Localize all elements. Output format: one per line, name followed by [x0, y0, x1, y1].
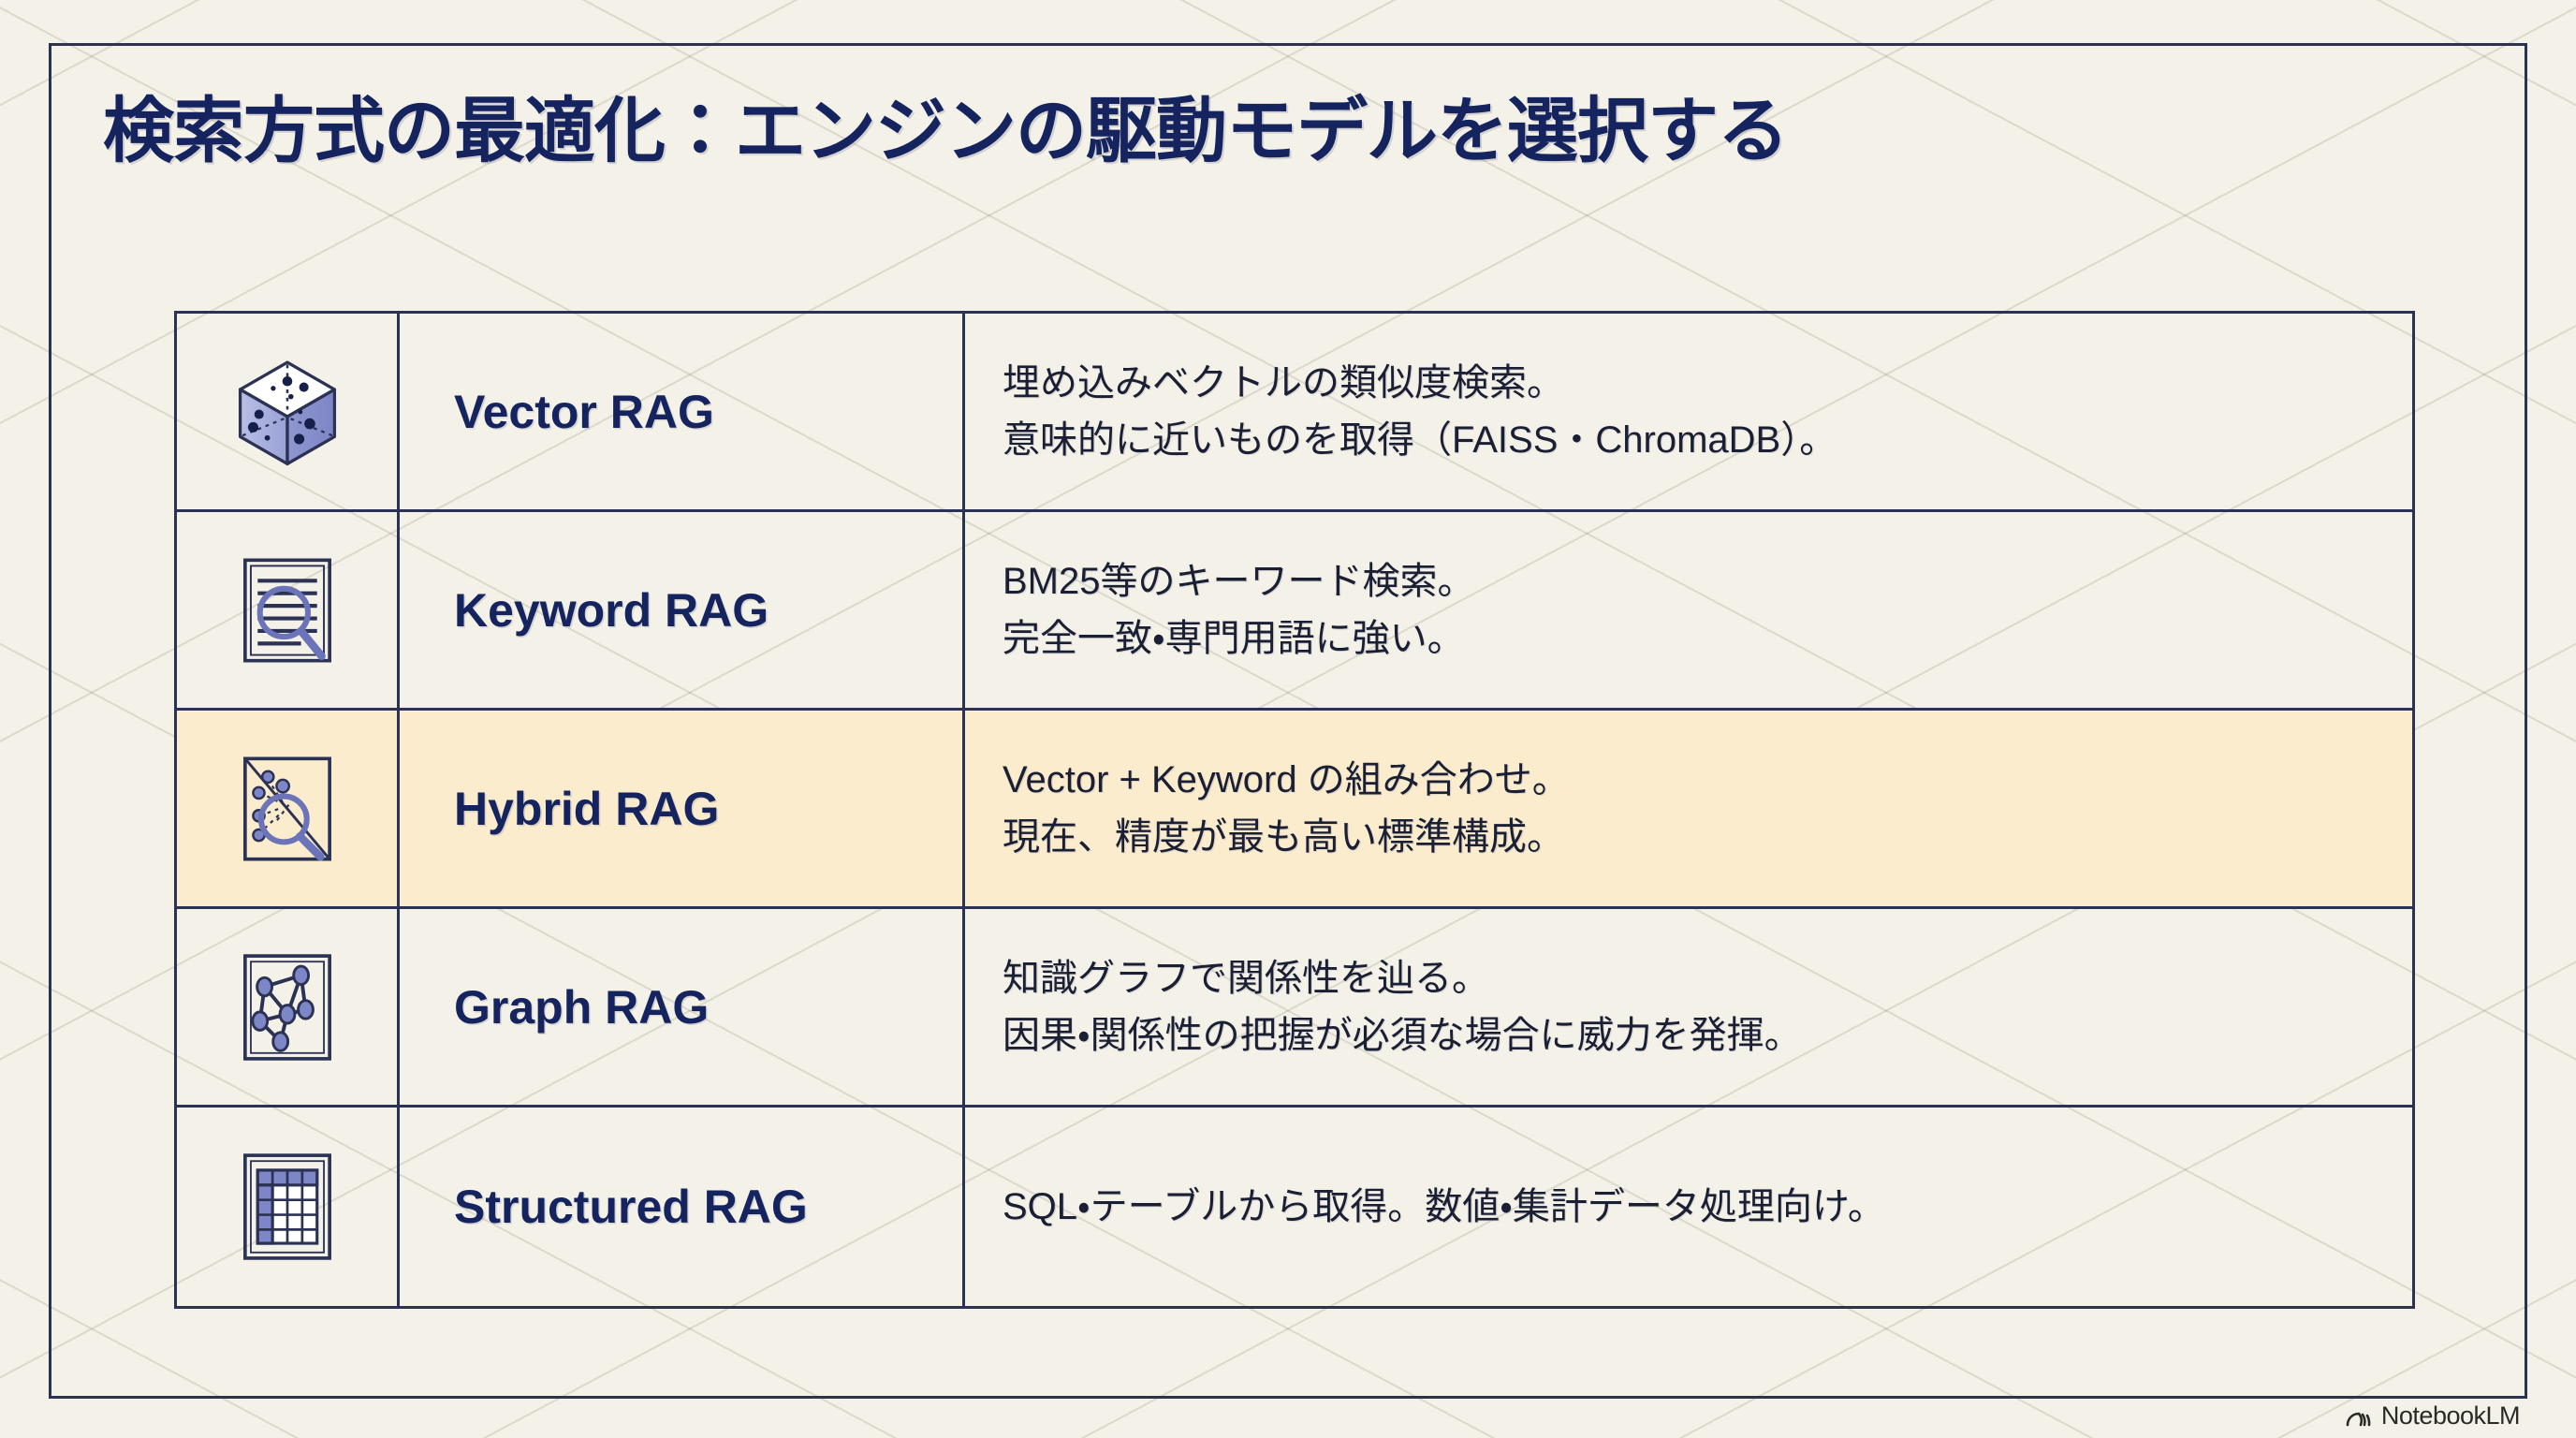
row-desc-line-1: 埋め込みベクトルの類似度検索。	[1003, 355, 2375, 412]
row-desc-line-2: 因果・関係性の把握が必須な場合に威力を発揮。	[1003, 1007, 2375, 1064]
rag-comparison-table: Vector RAG 埋め込みベクトルの類似度検索。 意味的に近いものを取得（F…	[174, 311, 2415, 1309]
row-desc-line-2: 現在、精度が最も高い標準構成。	[1003, 809, 2375, 866]
row-icon-cell	[177, 711, 400, 906]
network-graph-icon	[230, 950, 344, 1064]
row-desc-cell: SQL・テーブルから取得。数値・集計データ処理向け。	[965, 1108, 2412, 1306]
row-desc-cell: Vector + Keyword の組み合わせ。 現在、精度が最も高い標準構成。	[965, 711, 2412, 906]
row-name-cell: Hybrid RAG	[400, 711, 965, 906]
row-icon-cell	[177, 1108, 400, 1306]
table-row[interactable]: Vector RAG 埋め込みベクトルの類似度検索。 意味的に近いものを取得（F…	[177, 314, 2412, 512]
table-row[interactable]: Keyword RAG BM25等のキーワード検索。 完全一致・専門用語に強い。	[177, 512, 2412, 711]
row-desc-cell: BM25等のキーワード検索。 完全一致・専門用語に強い。	[965, 512, 2412, 708]
row-name-cell: Structured RAG	[400, 1108, 965, 1306]
table-row[interactable]: Structured RAG SQL・テーブルから取得。数値・集計データ処理向け…	[177, 1108, 2412, 1306]
row-name-cell: Keyword RAG	[400, 512, 965, 708]
row-desc-line-1: BM25等のキーワード検索。	[1003, 553, 2375, 610]
row-icon-cell	[177, 909, 400, 1105]
row-desc-line-1: Vector + Keyword の組み合わせ。	[1003, 752, 2375, 809]
row-desc-cell: 知識グラフで関係性を辿る。 因果・関係性の把握が必須な場合に威力を発揮。	[965, 909, 2412, 1105]
notebooklm-arc-icon	[2346, 1406, 2372, 1427]
row-desc-line-1: 知識グラフで関係性を辿る。	[1003, 950, 2375, 1007]
cube-dots-icon	[228, 353, 346, 471]
row-name-cell: Graph RAG	[400, 909, 965, 1105]
scatter-magnifier-icon	[230, 752, 344, 866]
row-desc-line-1: SQL・テーブルから取得。数値・集計データ処理向け。	[1003, 1179, 2375, 1236]
document-magnifier-icon	[230, 553, 344, 668]
table-row[interactable]: Hybrid RAG Vector + Keyword の組み合わせ。 現在、精…	[177, 711, 2412, 909]
page-title: 検索方式の最適化：エンジンの駆動モデルを選択する	[103, 73, 1788, 176]
row-icon-cell	[177, 512, 400, 708]
table-row[interactable]: Graph RAG 知識グラフで関係性を辿る。 因果・関係性の把握が必須な場合に…	[177, 909, 2412, 1108]
row-name-cell: Vector RAG	[400, 314, 965, 509]
notebooklm-wordmark: NotebookLM	[2381, 1401, 2520, 1431]
row-icon-cell	[177, 314, 400, 509]
table-grid-icon	[230, 1150, 344, 1264]
row-desc-line-2: 意味的に近いものを取得（FAISS・ChromaDB）。	[1003, 412, 2375, 469]
notebooklm-branding: NotebookLM	[2346, 1401, 2520, 1431]
row-desc-line-2: 完全一致・専門用語に強い。	[1003, 610, 2375, 668]
row-desc-cell: 埋め込みベクトルの類似度検索。 意味的に近いものを取得（FAISS・Chroma…	[965, 314, 2412, 509]
